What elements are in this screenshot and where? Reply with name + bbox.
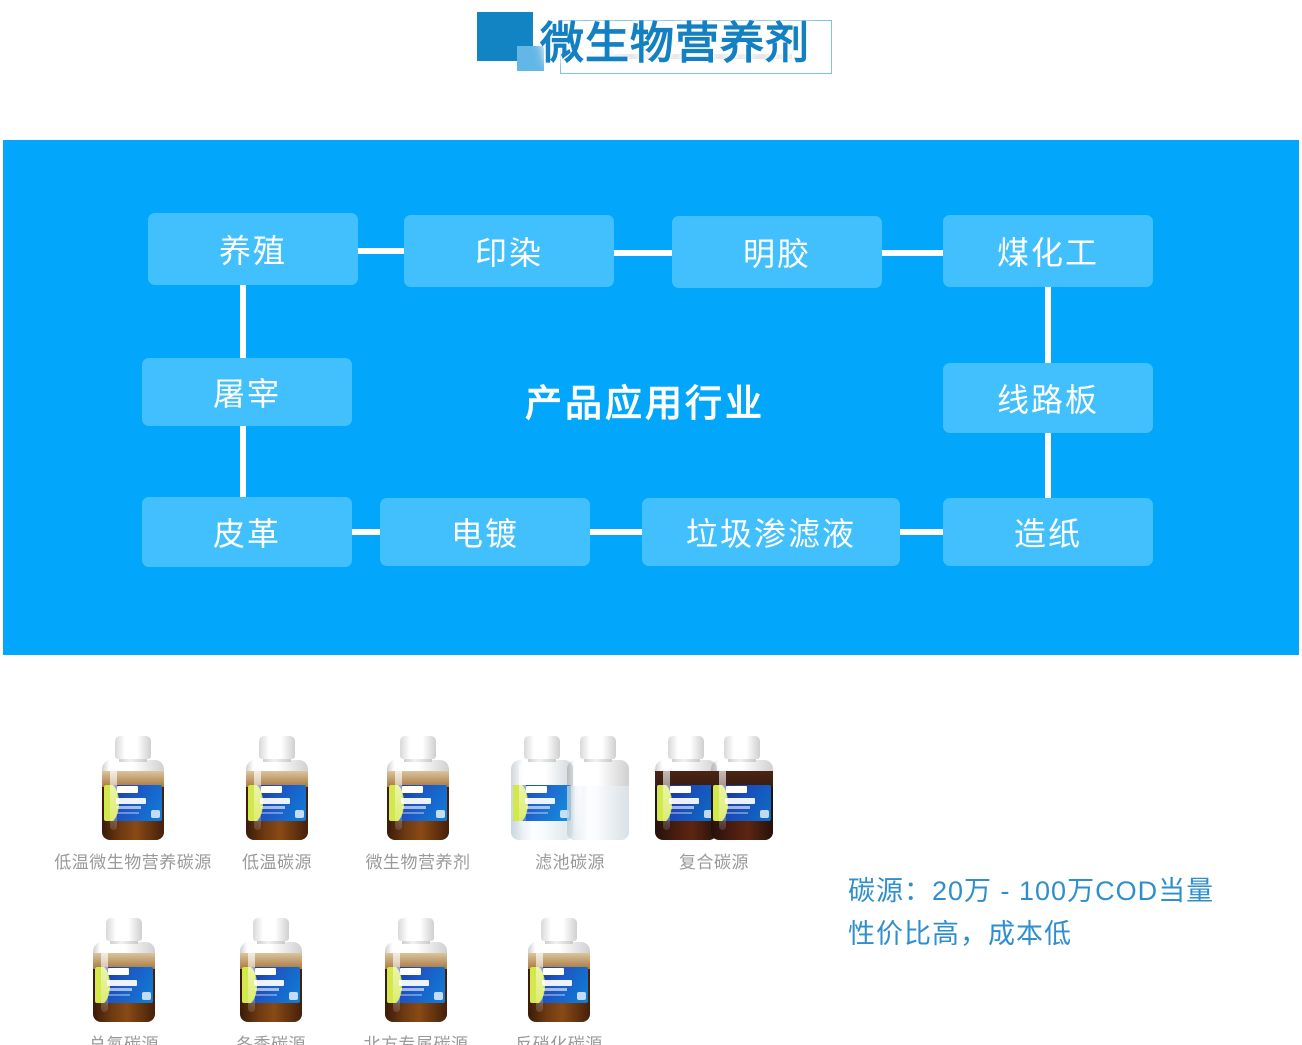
application-industries-panel: 产品应用行业 养殖印染明胶煤化工屠宰线路板皮革电镀垃圾渗滤液造纸 [3, 140, 1299, 655]
diagram-node-7[interactable]: 电镀 [380, 498, 590, 566]
page-root: 微生物营养剂 产品应用行业 养殖印染明胶煤化工屠宰线路板皮革电镀垃圾渗滤液造纸 … [0, 0, 1302, 1045]
label-main-text [669, 798, 699, 803]
bottle-highlight [663, 764, 670, 830]
label-main-text [725, 798, 755, 803]
page-header: 微生物营养剂 [0, 0, 1302, 130]
label-footer-text [543, 994, 565, 996]
bottle-cap [668, 736, 704, 759]
label-main-text [525, 798, 555, 803]
diagram-node-3[interactable]: 煤化工 [943, 215, 1153, 287]
product-caption: 反硝化碳源 [459, 1030, 659, 1045]
product-bottle [93, 918, 155, 1022]
label-sub-text [526, 806, 550, 809]
diagram-connector-v-5 [240, 426, 246, 497]
diagram-connector-v-6 [1045, 433, 1051, 498]
label-main-text [399, 980, 429, 985]
product-item[interactable]: 复合碳源 [614, 736, 814, 873]
label-brand-mark [255, 968, 276, 975]
label-footer-text [261, 812, 283, 814]
product-item[interactable]: 反硝化碳源 [459, 918, 659, 1045]
bottle-highlight [536, 946, 543, 1012]
bottle-highlight [248, 946, 255, 1012]
product-bottle [528, 918, 590, 1022]
product-bottle [511, 736, 573, 840]
diagram-node-6[interactable]: 皮革 [142, 497, 352, 567]
bottle-cap [115, 736, 151, 759]
label-badge-icon [760, 810, 769, 818]
label-footer-text [255, 994, 277, 996]
label-brand-mark [117, 786, 138, 793]
bottle-highlight [719, 764, 726, 830]
label-badge-icon [434, 992, 443, 1000]
label-sub-text [255, 988, 279, 991]
label-sub-text [726, 806, 750, 809]
bottle-highlight [110, 764, 117, 830]
label-main-text [254, 980, 284, 985]
label-brand-mark [108, 968, 129, 975]
diagram-center-title: 产品应用行业 [525, 373, 765, 427]
product-bottle [102, 736, 164, 840]
label-sub-text [400, 988, 424, 991]
label-main-text [107, 980, 137, 985]
diagram-node-0[interactable]: 养殖 [148, 213, 358, 285]
label-main-text [116, 798, 146, 803]
label-badge-icon [151, 810, 160, 818]
promo-line-2: 性价比高，成本低 [848, 913, 1214, 956]
promo-text-block: 碳源：20万 - 100万COD当量 性价比高，成本低 [848, 870, 1214, 956]
label-footer-text [108, 994, 130, 996]
diagram-connector-v-4 [1045, 287, 1051, 363]
diagram-connector-h-2 [882, 250, 943, 256]
bottle-cap [724, 736, 760, 759]
diagram-node-1[interactable]: 印染 [404, 215, 614, 287]
label-footer-text [402, 812, 424, 814]
label-footer-text [726, 812, 748, 814]
bottle-cap [580, 736, 616, 759]
label-sub-text [543, 988, 567, 991]
diagram-connector-h-8 [590, 529, 642, 535]
product-bottle [711, 736, 773, 840]
label-sub-text [117, 806, 141, 809]
diagram-node-2[interactable]: 明胶 [672, 216, 882, 288]
label-brand-mark [400, 968, 421, 975]
diagram-node-4[interactable]: 屠宰 [142, 358, 352, 426]
label-sub-text [402, 806, 426, 809]
label-footer-text [670, 812, 692, 814]
diagram-connector-v-3 [240, 285, 246, 358]
bottle-cap [400, 736, 436, 759]
label-brand-mark [261, 786, 282, 793]
bottle-cap [106, 918, 142, 941]
label-badge-icon [436, 810, 445, 818]
bottle-cap [398, 918, 434, 941]
diagram-connector-h-9 [900, 529, 943, 535]
product-image [614, 736, 814, 840]
label-footer-text [117, 812, 139, 814]
label-main-text [260, 798, 290, 803]
product-bottle [246, 736, 308, 840]
bottle-highlight [254, 764, 261, 830]
product-image [459, 918, 659, 1022]
label-brand-mark [543, 968, 564, 975]
label-footer-text [526, 812, 548, 814]
bottle-cap [524, 736, 560, 759]
promo-line-1: 碳源：20万 - 100万COD当量 [848, 870, 1214, 913]
label-brand-mark [726, 786, 747, 793]
product-bottle [387, 736, 449, 840]
bottle-cap [259, 736, 295, 759]
label-main-text [542, 980, 572, 985]
label-sub-text [670, 806, 694, 809]
bottle-highlight [395, 764, 402, 830]
label-badge-icon [289, 992, 298, 1000]
bottle-highlight [575, 764, 582, 830]
label-badge-icon [577, 992, 586, 1000]
label-main-text [401, 798, 431, 803]
diagram-node-8[interactable]: 垃圾渗滤液 [642, 498, 900, 566]
bottle-highlight [101, 946, 108, 1012]
label-brand-mark [670, 786, 691, 793]
label-sub-text [108, 988, 132, 991]
label-brand-mark [526, 786, 547, 793]
bottle-cap [541, 918, 577, 941]
label-badge-icon [142, 992, 151, 1000]
diagram-connector-h-0 [358, 248, 404, 254]
bottle-highlight [393, 946, 400, 1012]
product-bottle [385, 918, 447, 1022]
diagram-node-5[interactable]: 线路板 [943, 363, 1153, 433]
bottle-highlight [519, 764, 526, 830]
label-brand-mark [402, 786, 423, 793]
diagram-connector-h-1 [614, 250, 672, 256]
bottle-cap [253, 918, 289, 941]
diagram-connector-h-7 [352, 529, 380, 535]
product-bottle [655, 736, 717, 840]
product-bottle [240, 918, 302, 1022]
label-footer-text [400, 994, 422, 996]
label-sub-text [261, 806, 285, 809]
page-title: 微生物营养剂 [540, 7, 810, 71]
product-caption: 复合碳源 [614, 848, 814, 873]
label-badge-icon [295, 810, 304, 818]
diagram-node-9[interactable]: 造纸 [943, 498, 1153, 566]
